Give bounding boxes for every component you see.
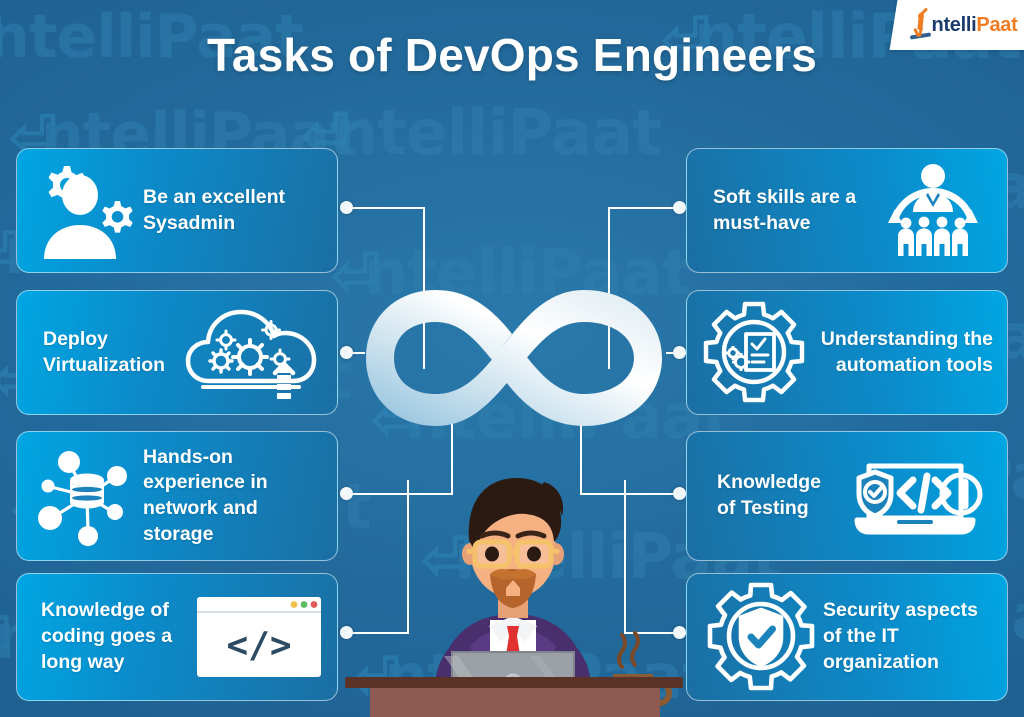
connector-line bbox=[347, 207, 425, 209]
card-label: Understanding the automation tools bbox=[807, 327, 993, 378]
logo-person-icon bbox=[911, 12, 931, 38]
card-label: Soft skills are a must-have bbox=[701, 185, 873, 236]
card-sysadmin[interactable]: Be an excellent Sysadmin bbox=[16, 148, 338, 273]
card-coding[interactable]: Knowledge of coding goes a long way </> bbox=[16, 573, 338, 701]
logo-text-primary: ntelli bbox=[932, 14, 977, 36]
gear-shield-check-icon bbox=[701, 581, 823, 693]
intellipaat-logo: ntelliPaat bbox=[890, 0, 1024, 50]
desk-top bbox=[345, 677, 683, 688]
card-label: Deploy Virtualization bbox=[31, 327, 183, 378]
browser-code-icon: </> bbox=[195, 595, 323, 679]
connector-dot bbox=[340, 346, 353, 359]
card-soft-skills[interactable]: Soft skills are a must-have bbox=[686, 148, 1008, 273]
card-security[interactable]: Security aspects of the IT organization bbox=[686, 573, 1008, 701]
card-automation-tools[interactable]: Understanding the automation tools bbox=[686, 290, 1008, 415]
card-label: Hands-on experience in network and stora… bbox=[143, 445, 323, 548]
card-testing[interactable]: Knowledge of Testing bbox=[686, 431, 1008, 561]
connector-dot bbox=[673, 201, 686, 214]
gears-people-icon bbox=[31, 159, 143, 263]
watermark-text: ⏎ntelliPaat bbox=[300, 96, 661, 169]
devops-infinity-icon bbox=[358, 278, 670, 438]
card-network-storage[interactable]: Hands-on experience in network and stora… bbox=[16, 431, 338, 561]
page-title: Tasks of DevOps Engineers bbox=[0, 28, 1024, 82]
team-leadership-icon bbox=[873, 159, 993, 263]
laptop-shield-code-icon bbox=[841, 448, 993, 544]
connector-dot bbox=[340, 201, 353, 214]
card-label: Security aspects of the IT organization bbox=[823, 598, 993, 675]
browser-dot-red bbox=[311, 601, 318, 608]
card-virtualization[interactable]: Deploy Virtualization bbox=[16, 290, 338, 415]
browser-dot-yellow bbox=[291, 601, 298, 608]
network-database-icon bbox=[31, 440, 143, 552]
card-label: Be an excellent Sysadmin bbox=[143, 185, 323, 236]
connector-dot bbox=[673, 346, 686, 359]
browser-dot-green bbox=[301, 601, 308, 608]
gear-document-icon bbox=[701, 300, 807, 406]
cloud-gears-icon bbox=[183, 299, 323, 407]
engineer-at-laptop-icon bbox=[330, 430, 696, 717]
infographic-canvas: ⏎ntelliPaat ⏎ntelliPaat ⏎ntelliPaat ⏎nte… bbox=[0, 0, 1024, 717]
svg-text:</>: </> bbox=[226, 625, 291, 666]
desk-body bbox=[370, 688, 660, 717]
logo-text-secondary: Paat bbox=[976, 14, 1017, 36]
card-label: Knowledge of coding goes a long way bbox=[31, 598, 195, 675]
card-label: Knowledge of Testing bbox=[701, 470, 841, 521]
